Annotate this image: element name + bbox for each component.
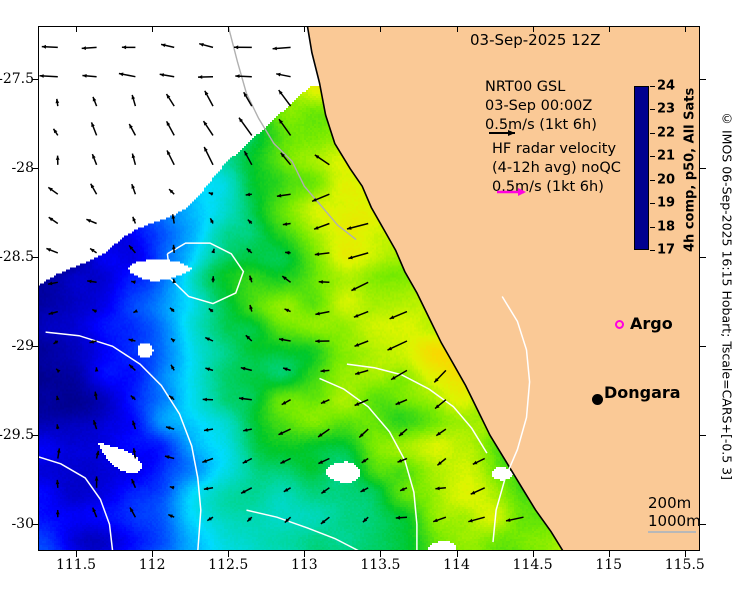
velocity-arrow	[282, 400, 291, 405]
colorbar-tick	[650, 180, 655, 181]
colorbar	[634, 86, 649, 250]
velocity-arrow	[362, 459, 369, 463]
velocity-arrow	[211, 276, 215, 282]
velocity-arrow	[56, 156, 60, 165]
velocity-arrow	[391, 370, 407, 379]
velocity-arrow	[205, 91, 213, 106]
velocity-vector-layer	[38, 26, 700, 551]
velocity-arrow	[49, 217, 58, 223]
velocity-arrow	[172, 245, 176, 253]
velocity-arrow	[273, 47, 291, 51]
velocity-arrow	[132, 95, 136, 106]
velocity-arrow	[87, 280, 96, 284]
colorbar-tick	[650, 133, 655, 134]
velocity-arrow	[40, 74, 58, 78]
velocity-arrow	[56, 510, 60, 517]
y-tick-label: -28	[11, 160, 34, 176]
colorbar-tick-label: 17	[657, 243, 675, 258]
velocity-arrow	[435, 487, 446, 491]
velocity-arrow	[249, 276, 253, 283]
velocity-arrow	[433, 517, 446, 522]
colorbar-tick-label: 18	[657, 219, 675, 234]
velocity-arrow	[249, 305, 253, 312]
velocity-arrow	[198, 75, 213, 79]
colorbar-tick	[650, 156, 655, 157]
colorbar-tick	[650, 250, 655, 251]
x-tick-label: 111.5	[56, 557, 96, 573]
velocity-arrow	[351, 282, 368, 290]
velocity-arrow	[234, 45, 252, 49]
x-tick-label: 113	[291, 557, 318, 573]
velocity-arrow	[247, 249, 252, 253]
colorbar-tick	[650, 203, 655, 204]
velocity-arrow	[205, 338, 213, 341]
sst-source-annotation: NRT00 GSL 03-Sep 00:00Z 0.5m/s (1kt 6h)	[485, 78, 597, 135]
velocity-arrow	[285, 251, 291, 255]
depth-label-1000m: 1000m	[648, 512, 701, 530]
velocity-arrow	[172, 279, 176, 284]
velocity-arrow	[321, 369, 330, 373]
velocity-arrow	[166, 426, 174, 430]
velocity-arrow	[279, 429, 291, 435]
velocity-arrow	[90, 249, 97, 253]
velocity-arrow	[314, 224, 329, 230]
x-tick-label: 112.5	[208, 557, 248, 573]
velocity-arrow	[56, 424, 60, 429]
velocity-arrow	[133, 448, 137, 458]
dongara-label: Dongara	[604, 383, 681, 402]
velocity-arrow	[172, 214, 176, 223]
velocity-arrow	[207, 517, 213, 521]
x-tick-top	[76, 26, 77, 32]
x-tick-label: 115	[595, 557, 622, 573]
x-tick-top	[457, 26, 458, 32]
velocity-arrow	[129, 365, 135, 371]
velocity-arrow	[167, 121, 175, 135]
y-tick-label: -30	[11, 516, 34, 532]
velocity-arrow	[129, 245, 135, 253]
velocity-arrow	[355, 370, 368, 375]
y-tick-right	[700, 168, 706, 169]
velocity-arrow	[133, 309, 138, 313]
velocity-arrow	[122, 45, 135, 49]
velocity-arrow	[396, 516, 407, 520]
colorbar-tick-label: 21	[657, 149, 675, 164]
x-tick-label: 114	[443, 557, 470, 573]
velocity-arrow	[283, 368, 291, 372]
colorbar-tick	[650, 109, 655, 110]
velocity-arrow	[93, 97, 97, 106]
velocity-arrow	[355, 400, 369, 406]
velocity-arrow	[315, 312, 329, 316]
velocity-arrow	[131, 280, 136, 284]
x-tick-label: 113.5	[360, 557, 400, 573]
velocity-arrow	[354, 312, 368, 318]
argo-label: Argo	[630, 314, 673, 333]
x-tick-top	[152, 26, 153, 32]
velocity-arrow	[205, 368, 213, 372]
velocity-arrow	[48, 282, 58, 286]
velocity-arrow	[96, 451, 100, 459]
velocity-arrow	[204, 121, 214, 135]
velocity-arrow	[468, 517, 484, 522]
velocity-arrow	[132, 154, 136, 165]
velocity-arrow	[130, 508, 135, 518]
velocity-arrow	[199, 43, 213, 47]
credit-text: © IMOS 06-Sep-2025 16:15 Hobart; Tscale=…	[716, 0, 738, 592]
velocity-arrow	[319, 280, 330, 284]
colorbar-tick-label: 23	[657, 102, 675, 117]
velocity-arrow	[283, 222, 291, 226]
velocity-arrow	[168, 515, 174, 518]
velocity-arrow	[203, 398, 213, 402]
colorbar-tick-label: 24	[657, 79, 675, 94]
velocity-arrow	[171, 339, 176, 343]
velocity-arrow	[132, 184, 136, 194]
velocity-arrow	[204, 428, 213, 432]
velocity-arrow	[54, 129, 58, 136]
velocity-arrow	[204, 487, 213, 491]
colorbar-tick-label: 22	[657, 125, 675, 140]
colorbar-title: 4h comp, p50, All Sats	[680, 88, 700, 252]
velocity-arrow	[209, 309, 214, 313]
x-tick-top	[304, 26, 305, 32]
velocity-arrow	[56, 480, 60, 488]
velocity-arrow	[160, 73, 175, 77]
velocity-arrow	[54, 340, 59, 344]
map-date-label: 03-Sep-2025 12Z	[470, 31, 601, 49]
velocity-arrow	[312, 194, 329, 201]
velocity-arrow	[400, 487, 407, 490]
colorbar-tick-label: 20	[657, 172, 675, 187]
velocity-arrow	[92, 154, 96, 165]
velocity-arrow	[133, 217, 136, 224]
velocity-arrow	[315, 339, 329, 343]
x-tick-label: 114.5	[513, 557, 553, 573]
velocity-arrow	[246, 335, 252, 341]
velocity-arrow	[284, 488, 291, 492]
velocity-arrow	[82, 46, 97, 50]
velocity-arrow	[359, 429, 368, 437]
velocity-arrow	[239, 397, 252, 401]
velocity-arrow	[211, 249, 215, 254]
x-tick-top	[685, 26, 686, 32]
velocity-arrow	[93, 508, 97, 518]
velocity-arrow	[91, 122, 96, 135]
depth-label-200m: 200m	[648, 494, 701, 512]
colorbar-tick	[650, 227, 655, 228]
velocity-arrow	[241, 367, 252, 371]
velocity-arrow	[285, 517, 291, 522]
x-tick-label: 115.5	[665, 557, 705, 573]
velocity-arrow	[42, 45, 58, 49]
velocity-arrow	[161, 44, 174, 48]
velocity-arrow	[318, 429, 329, 437]
velocity-arrow	[243, 428, 252, 432]
y-tick-label: -27.5	[0, 71, 34, 87]
velocity-arrow	[279, 338, 291, 342]
velocity-arrow	[91, 184, 97, 195]
velocity-arrow	[90, 340, 97, 344]
velocity-arrow	[318, 459, 329, 464]
velocity-arrow	[86, 219, 96, 223]
velocity-arrow	[131, 396, 136, 400]
velocity-arrow	[321, 517, 330, 524]
y-tick-right	[700, 257, 706, 258]
velocity-arrow	[388, 341, 408, 350]
velocity-arrow	[247, 517, 252, 521]
scale-line-1000m	[648, 531, 696, 533]
velocity-arrow	[204, 147, 213, 165]
radar-velocity-annotation: HF radar velocity (4-12h avg) noQC 0.5m/…	[492, 140, 621, 197]
velocity-arrow	[363, 517, 368, 522]
velocity-arrow	[119, 73, 135, 77]
y-tick-label: -28.5	[0, 249, 34, 265]
y-tick-label: -29.5	[0, 427, 34, 443]
velocity-arrow	[396, 400, 407, 405]
velocity-arrow	[276, 73, 290, 77]
velocity-arrow	[82, 74, 96, 78]
velocity-arrow	[244, 92, 252, 106]
depth-contour-labels: 200m 1000m	[648, 494, 701, 530]
velocity-arrow	[348, 253, 368, 259]
velocity-arrow	[321, 488, 329, 494]
velocity-arrow	[241, 488, 252, 494]
x-tick-top	[228, 26, 229, 32]
velocity-arrow	[167, 94, 175, 106]
velocity-arrow	[285, 309, 291, 312]
velocity-arrow	[399, 429, 407, 436]
y-tick-right	[700, 79, 706, 80]
velocity-arrow	[315, 252, 330, 256]
velocity-arrow	[246, 193, 252, 197]
velocity-arrow	[398, 459, 408, 463]
figure-root: 111.5112112.5113113.5114114.5115115.5-27…	[0, 0, 740, 592]
colorbar-tick	[650, 86, 655, 87]
velocity-arrow	[347, 224, 368, 230]
velocity-arrow	[277, 194, 291, 198]
velocity-arrow	[56, 396, 60, 401]
map-plot-area[interactable]	[38, 26, 700, 551]
velocity-arrow	[279, 119, 291, 135]
velocity-arrow	[49, 311, 58, 315]
velocity-arrow	[46, 248, 57, 253]
x-tick-top	[380, 26, 381, 32]
velocity-arrow	[279, 90, 291, 106]
velocity-arrow	[167, 150, 174, 164]
velocity-arrow	[506, 517, 524, 522]
velocity-arrow	[56, 99, 60, 106]
velocity-arrow	[129, 124, 135, 135]
velocity-arrow	[471, 488, 485, 494]
velocity-arrow	[435, 400, 446, 409]
argo-marker-icon	[615, 320, 624, 329]
velocity-arrow	[169, 189, 174, 194]
velocity-arrow	[473, 459, 485, 465]
velocity-arrow	[170, 308, 174, 312]
y-tick-label: -29	[11, 338, 34, 354]
velocity-arrow	[92, 310, 97, 314]
velocity-arrow	[282, 276, 290, 282]
velocity-arrow	[315, 155, 330, 165]
y-tick-right	[700, 524, 706, 525]
velocity-arrow	[239, 118, 252, 136]
velocity-arrow	[437, 459, 446, 466]
velocity-arrow	[48, 187, 58, 194]
velocity-arrow	[165, 455, 174, 459]
velocity-arrow	[434, 370, 446, 382]
velocity-arrow	[244, 151, 251, 165]
velocity-arrow	[132, 421, 136, 430]
velocity-arrow	[56, 369, 60, 373]
velocity-arrow	[129, 339, 136, 343]
velocity-arrow	[95, 476, 99, 487]
velocity-arrow	[132, 479, 136, 488]
velocity-arrow	[248, 220, 252, 224]
velocity-arrow	[280, 459, 290, 464]
colorbar-tick-label: 19	[657, 196, 675, 211]
velocity-arrow	[235, 74, 252, 78]
velocity-arrow	[321, 400, 330, 404]
dongara-marker-icon	[592, 394, 603, 405]
velocity-arrow	[95, 367, 99, 371]
y-tick-right	[700, 346, 706, 347]
velocity-arrow	[210, 218, 214, 223]
x-tick-label: 112	[139, 557, 166, 573]
velocity-arrow	[202, 459, 213, 463]
x-tick-top	[609, 26, 610, 32]
velocity-arrow	[93, 420, 97, 429]
velocity-arrow	[361, 488, 369, 492]
velocity-arrow	[169, 396, 174, 400]
y-tick-right	[700, 435, 706, 436]
velocity-arrow	[171, 365, 175, 371]
velocity-arrow	[94, 392, 98, 400]
velocity-arrow	[209, 192, 214, 196]
velocity-arrow	[390, 312, 407, 319]
velocity-arrow	[355, 341, 369, 347]
velocity-arrow	[170, 486, 175, 490]
velocity-arrow	[436, 429, 446, 436]
velocity-arrow	[57, 448, 61, 458]
velocity-arrow	[243, 459, 252, 464]
velocity-arrow	[281, 153, 291, 165]
